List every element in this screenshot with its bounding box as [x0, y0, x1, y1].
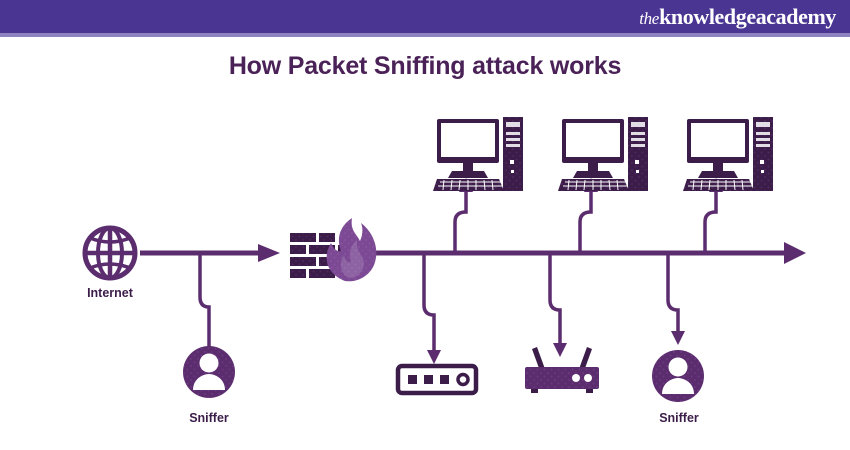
label-sniffer-right: Sniffer: [629, 411, 729, 425]
sniffer-right: [652, 350, 704, 402]
globe-icon: [85, 228, 135, 278]
desktop-computer-2: [558, 117, 648, 191]
label-internet: Internet: [60, 286, 160, 300]
connector-bus-to-sniffer-left: [200, 255, 209, 348]
firewall-flame-icon: [290, 218, 376, 281]
network-switch-icon: [398, 366, 476, 393]
network-diagram: [0, 0, 850, 450]
desktop-computer-1: [433, 117, 523, 191]
label-sniffer-left: Sniffer: [159, 411, 259, 425]
diagram-page: theknowledgeacademy How Packet Sniffing …: [0, 0, 850, 450]
connector-bus-to-sniffer-right: [668, 256, 685, 345]
flame-icon: [327, 218, 377, 281]
desktop-computer-3: [683, 117, 773, 191]
wireless-router-icon: [525, 347, 599, 393]
connector-bus-to-switch: [424, 256, 441, 364]
connector-bus-to-router: [550, 256, 567, 357]
sniffer-left: [183, 346, 235, 398]
